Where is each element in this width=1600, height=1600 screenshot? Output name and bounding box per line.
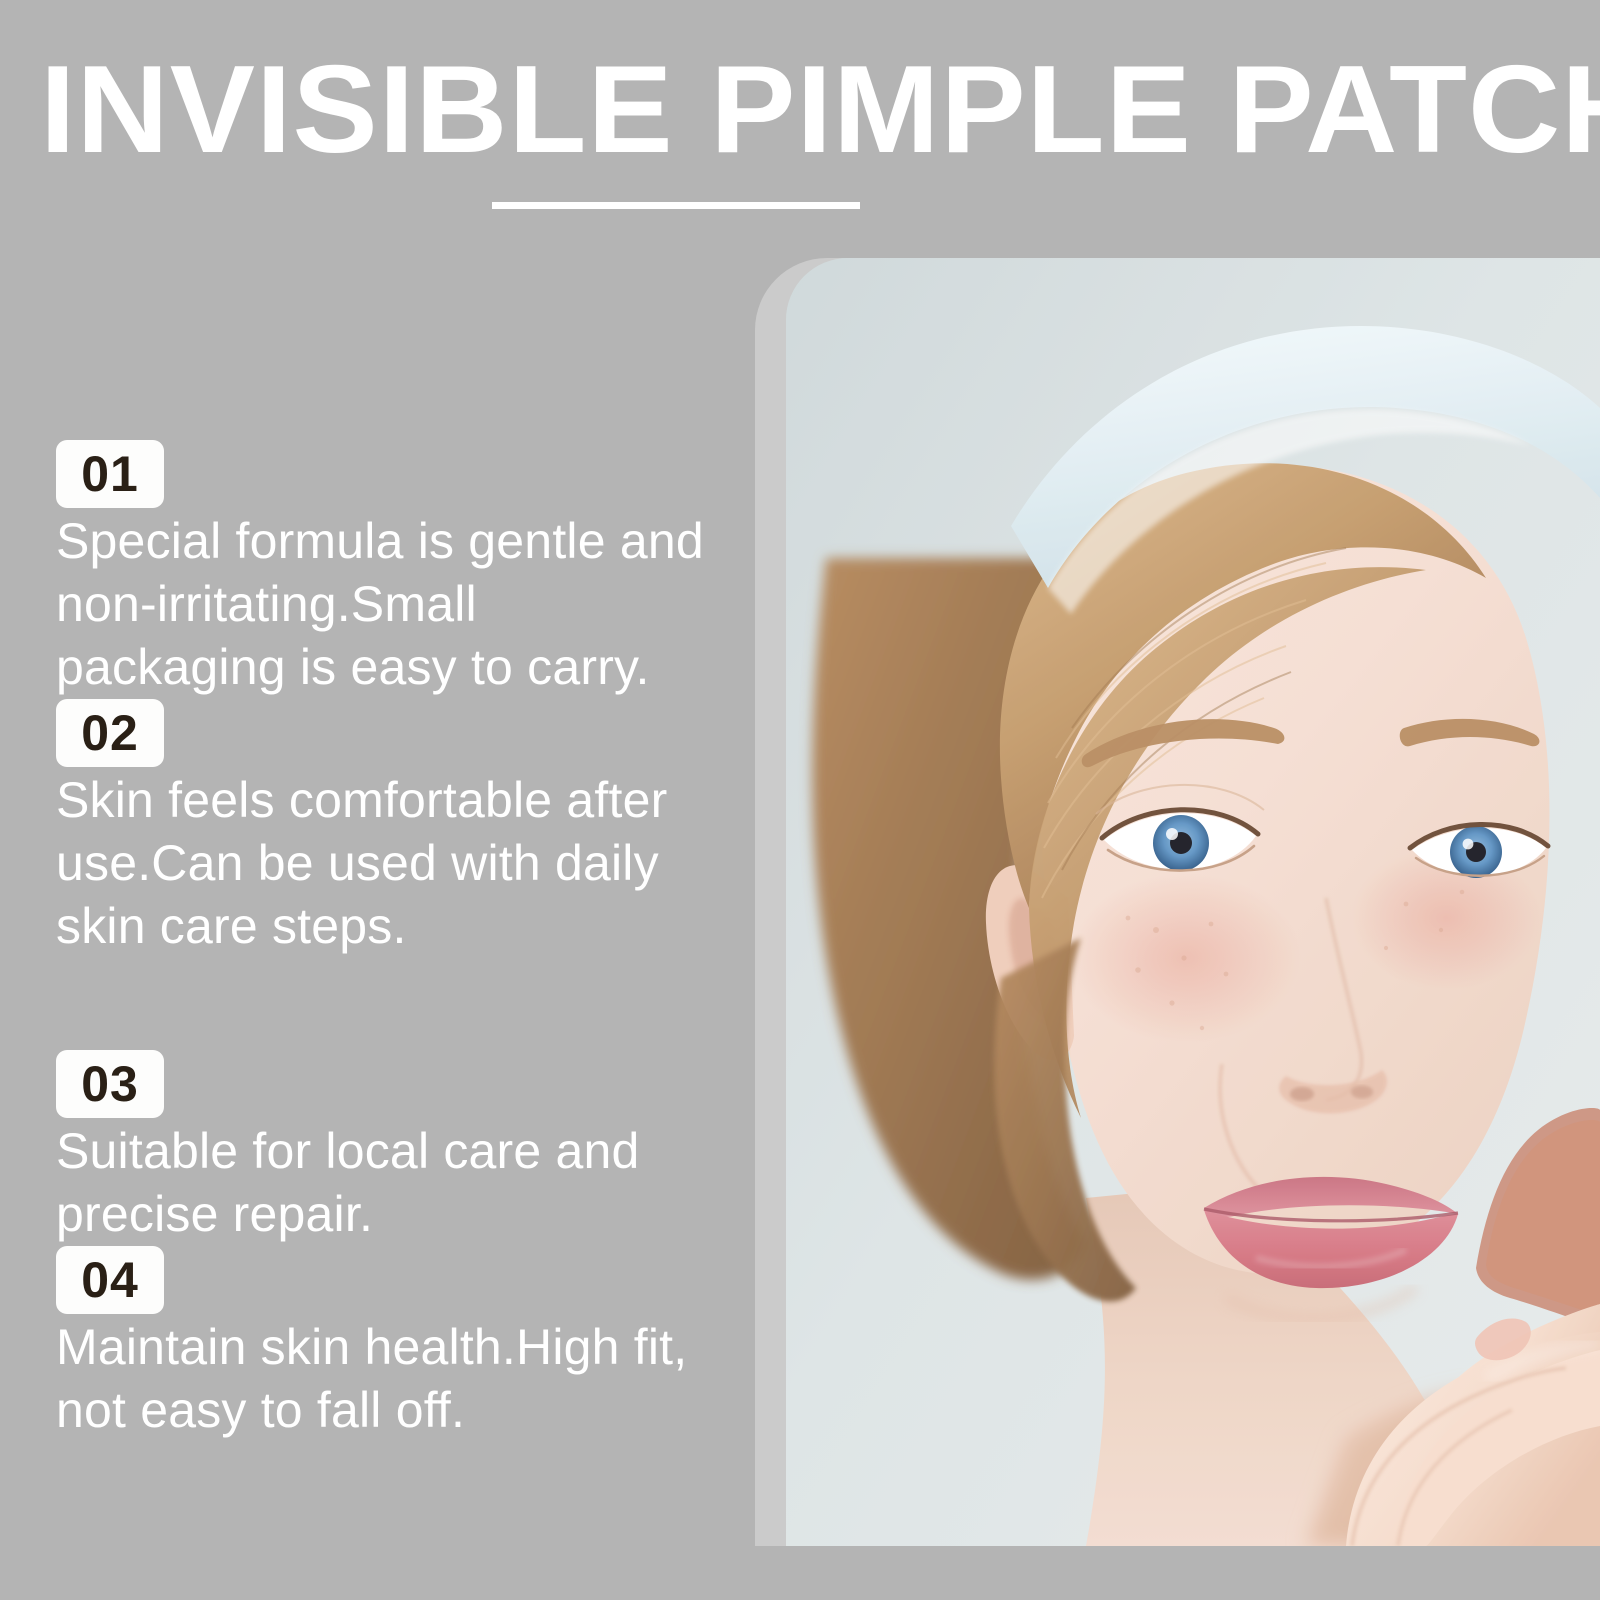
feature-item-01: 01 Special formula is gentle and non-irr… [56,440,716,699]
feature-number-badge-04: 04 [56,1246,164,1314]
feature-item-03: 03 Suitable for local care and precise r… [56,1050,716,1246]
feature-text-02: Skin feels comfortable after use.Can be … [56,769,706,958]
feature-list: 01 Special formula is gentle and non-irr… [56,440,716,1442]
page-title: INVISIBLE PIMPLE PATCHES [40,48,1600,172]
feature-number-badge-01: 01 [56,440,164,508]
feature-number-badge-03: 03 [56,1050,164,1118]
feature-text-03: Suitable for local care and precise repa… [56,1120,706,1246]
feature-text-01: Special formula is gentle and non-irrita… [56,510,706,699]
product-feature-poster: INVISIBLE PIMPLE PATCHES [0,0,1600,1600]
feature-item-02: 02 Skin feels comfortable after use.Can … [56,699,716,958]
feature-item-04: 04 Maintain skin health.High fit, not ea… [56,1246,716,1442]
model-photo [786,258,1600,1546]
feature-text-04: Maintain skin health.High fit, not easy … [56,1316,706,1442]
feature-number-badge-02: 02 [56,699,164,767]
title-divider [492,202,860,209]
